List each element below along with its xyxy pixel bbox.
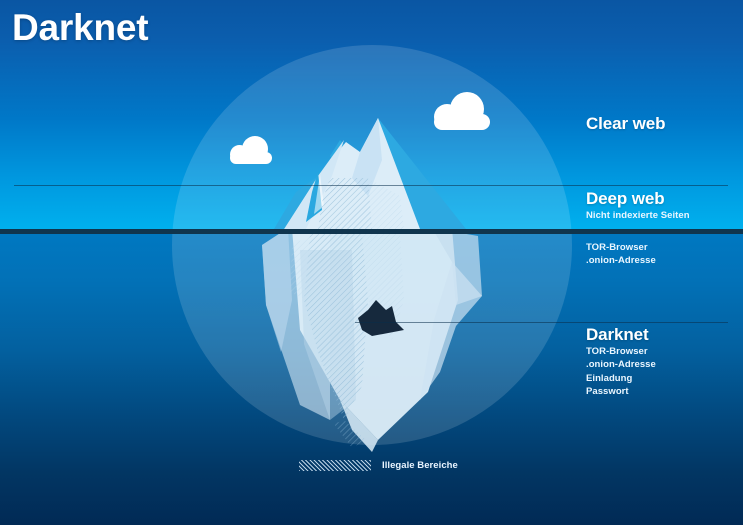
legend: Illegale Bereiche [299,460,458,471]
deep-web-subtitle: Nicht indexierte Seiten [586,209,690,222]
waterline-divider [0,229,743,234]
cloud-icon [230,136,272,164]
clear-web-heading: Clear web [586,114,665,134]
label-group-clear-web: Clear web [586,114,665,134]
darknet-requirement: .onion-Adresse [586,358,656,371]
darknet-divider [355,322,728,323]
deep-web-requirement: TOR-Browser [586,241,656,254]
cloud-icon [434,92,490,130]
legend-label: Illegale Bereiche [382,460,458,471]
label-group-deep-web: Deep web Nicht indexierte Seiten [586,189,690,222]
background-circle [172,45,572,445]
page-title: Darknet [12,7,148,49]
deep-web-heading: Deep web [586,189,690,209]
clear-web-divider [14,185,728,186]
label-group-darknet: Darknet TOR-Browser .onion-Adresse Einla… [586,325,656,398]
infographic-canvas: Darknet Clear web Deep web Nicht indexie… [0,0,743,525]
darknet-heading: Darknet [586,325,656,345]
darknet-requirement: Passwort [586,385,656,398]
hatch-pattern-swatch [299,460,371,471]
darknet-requirement: TOR-Browser [586,345,656,358]
label-group-deep-web-requirements: TOR-Browser .onion-Adresse [586,241,656,268]
deep-web-requirement: .onion-Adresse [586,254,656,267]
darknet-requirement: Einladung [586,372,656,385]
